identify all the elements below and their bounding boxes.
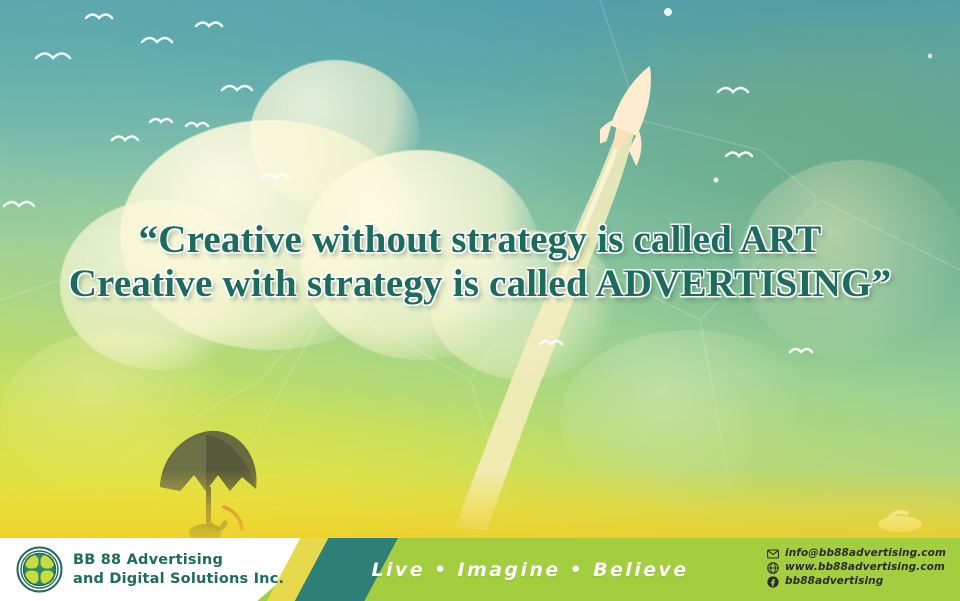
brand-name: BB 88 Advertising and Digital Solutions … (73, 551, 284, 587)
globe-icon (767, 561, 779, 573)
facebook-icon (767, 575, 779, 587)
brand-name-line-1: BB 88 Advertising (73, 552, 223, 568)
tagline: Live • Imagine • Believe (355, 538, 705, 601)
contact-website[interactable]: www.bb88advertising.com (767, 561, 946, 573)
brand-name-line-2: and Digital Solutions Inc. (73, 571, 284, 587)
contact-email-text: info@bb88advertising.com (785, 547, 946, 559)
brand-lockup[interactable]: BB 88 Advertising and Digital Solutions … (16, 546, 284, 593)
contact-facebook[interactable]: bb88advertising (767, 575, 946, 587)
envelope-icon (767, 547, 779, 559)
contact-email[interactable]: info@bb88advertising.com (767, 547, 946, 559)
advertising-banner: “Creative without strategy is called ART… (0, 0, 960, 601)
footer-bar: BB 88 Advertising and Digital Solutions … (0, 538, 960, 601)
contact-website-text: www.bb88advertising.com (785, 561, 945, 573)
contact-facebook-text: bb88advertising (785, 575, 883, 587)
artwork-bottom-fade (0, 470, 960, 540)
contact-info: info@bb88advertising.com www.bb88adverti… (767, 547, 946, 587)
bird-flock (0, 0, 960, 540)
bb88-circular-logo-icon (16, 546, 63, 593)
artwork-background (0, 0, 960, 540)
